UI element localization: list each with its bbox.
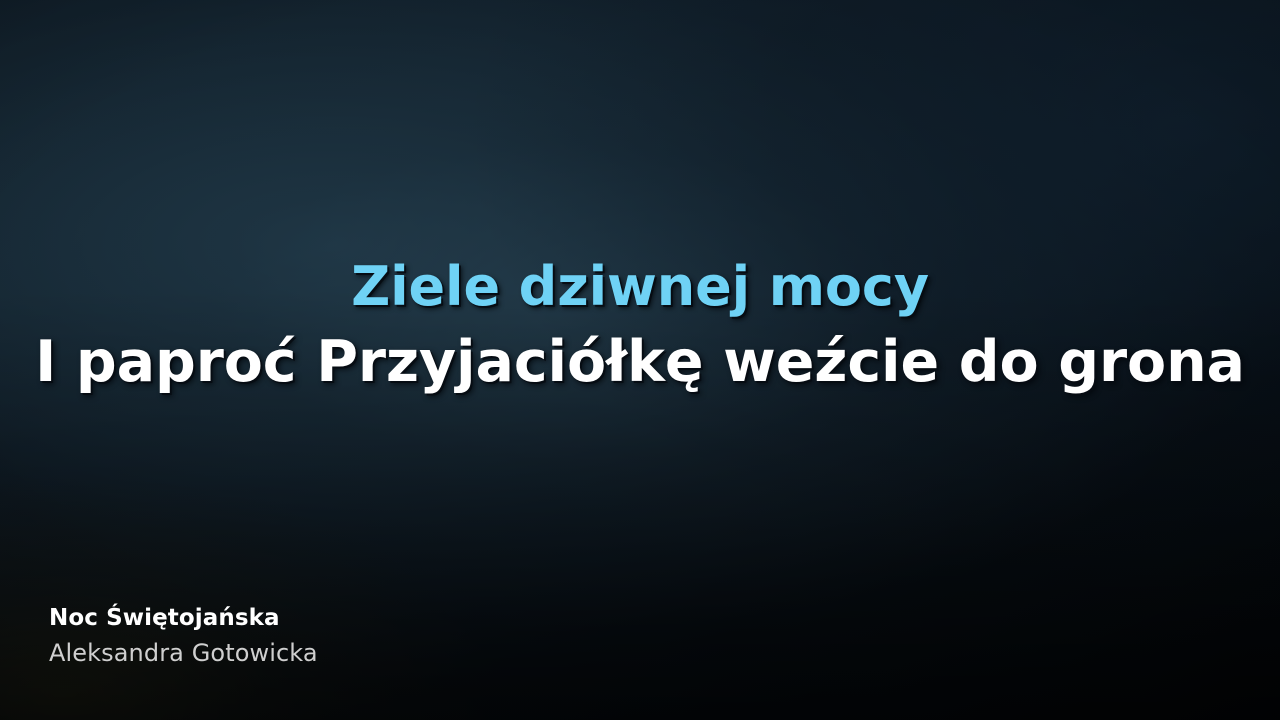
slide-title-line-1: Ziele dziwnej mocy	[0, 258, 1280, 316]
slide-title-line-2: I paproć Przyjaciółkę weźcie do grona	[0, 332, 1280, 394]
footer-presentation-title: Noc Świętojańska	[49, 605, 318, 633]
slide-footer-block: Noc Świętojańska Aleksandra Gotowicka	[49, 605, 318, 668]
presentation-slide: Ziele dziwnej mocy I paproć Przyjaciółkę…	[0, 0, 1280, 720]
footer-author-name: Aleksandra Gotowicka	[49, 639, 318, 668]
slide-title-block: Ziele dziwnej mocy I paproć Przyjaciółkę…	[0, 258, 1280, 394]
